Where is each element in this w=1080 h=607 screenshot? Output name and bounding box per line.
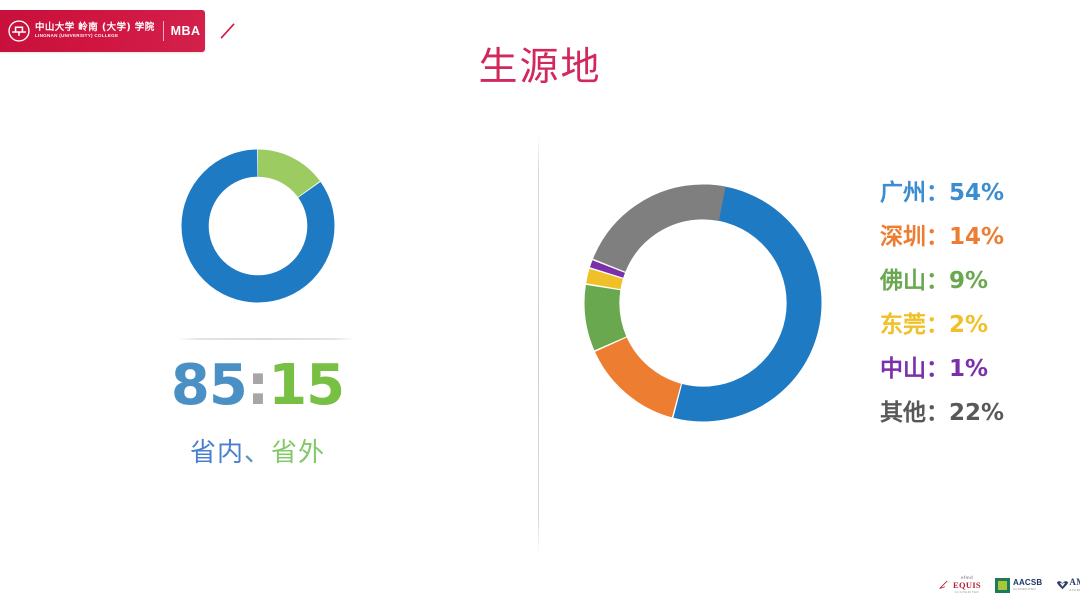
anniversary-20-icon: th: [208, 22, 242, 40]
aacsb-square-icon: [995, 578, 1010, 593]
aacsb-sublabel: ACCREDITED: [1013, 588, 1042, 591]
amba-ribbon-icon: [1056, 580, 1069, 590]
brand-bar: 中山大学 岭南 (大学) 学院 LINGNAN (UNIVERSITY) COL…: [0, 10, 205, 52]
legend-item-shenzhen: 深圳：14%: [880, 226, 1060, 270]
legend-item-foshan: 佛山：9%: [880, 270, 1060, 314]
brand-name-en: LINGNAN (UNIVERSITY) COLLEGE: [35, 34, 155, 39]
legend-separator-dongguan: ：: [926, 314, 949, 337]
brand-name-cn: 中山大学 岭南 (大学) 学院: [35, 23, 155, 33]
legend-value-zhongshan: 1%: [949, 358, 988, 381]
equis-swoosh-icon: [938, 580, 953, 590]
legend-separator-guangzhou: ：: [926, 182, 949, 205]
legend-label-foshan: 佛山: [880, 270, 926, 293]
amba-sublabel: ACCREDITED: [1069, 589, 1080, 592]
legend-value-other: 22%: [949, 402, 1004, 425]
ratio-value-inside: 85: [171, 353, 247, 418]
aacsb-logo-icon: AACSB ACCREDITED: [995, 572, 1042, 598]
legend-separator-shenzhen: ：: [926, 226, 949, 249]
legend-item-other: 其他：22%: [880, 402, 1060, 446]
brand-program-label: MBA: [171, 24, 201, 38]
equis-logo-icon: efmd EQUIS ACCREDITED: [938, 572, 981, 598]
ratio-colon: :: [247, 353, 268, 418]
brand-divider: [163, 21, 164, 41]
legend-value-guangzhou: 54%: [949, 182, 1004, 205]
legend-separator-zhongshan: ：: [926, 358, 949, 381]
page-title: 生源地: [0, 48, 1080, 87]
anniversary-suffix: th: [239, 33, 242, 37]
city-donut-chart: [570, 170, 836, 436]
legend-item-dongguan: 东莞：2%: [880, 314, 1060, 358]
amba-logo-icon: AMBA ACCREDITED: [1056, 572, 1080, 598]
equis-label: EQUIS: [953, 581, 981, 590]
legend-label-other: 其他: [880, 402, 926, 425]
lingnan-arch-emblem-icon: [8, 20, 30, 42]
equis-sublabel: ACCREDITED: [955, 591, 980, 594]
legend-value-shenzhen: 14%: [949, 226, 1004, 249]
city-legend: 广州：54% 深圳：14% 佛山：9% 东莞：2% 中山：1% 其他：22%: [880, 182, 1060, 446]
legend-separator-other: ：: [926, 402, 949, 425]
ratio-value-outside: 15: [268, 353, 344, 418]
legend-separator-foshan: ：: [926, 270, 949, 293]
ratio-rule: [177, 338, 355, 340]
panel-divider: [538, 135, 539, 555]
ratio-caption-inside: 省内: [190, 438, 244, 468]
slide-canvas: 中山大学 岭南 (大学) 学院 LINGNAN (UNIVERSITY) COL…: [0, 0, 1080, 607]
legend-label-zhongshan: 中山: [880, 358, 926, 381]
aacsb-text-block: AACSB ACCREDITED: [1013, 579, 1042, 592]
ratio-caption-outside: 省外: [271, 438, 325, 468]
brand-name-block: 中山大学 岭南 (大学) 学院 LINGNAN (UNIVERSITY) COL…: [35, 23, 155, 39]
ratio-caption-separator: 、: [244, 438, 271, 468]
amba-text-block: AMBA ACCREDITED: [1069, 578, 1080, 592]
amba-label: AMBA: [1069, 578, 1080, 587]
ratio-caption: 省内、省外: [150, 440, 365, 466]
aacsb-label: AACSB: [1013, 579, 1042, 587]
legend-label-shenzhen: 深圳: [880, 226, 926, 249]
equis-text-block: efmd EQUIS ACCREDITED: [953, 576, 981, 594]
legend-item-zhongshan: 中山：1%: [880, 358, 1060, 402]
accreditation-logos: efmd EQUIS ACCREDITED AACSB ACCREDITED A…: [938, 570, 1080, 600]
legend-value-dongguan: 2%: [949, 314, 988, 337]
legend-value-foshan: 9%: [949, 270, 988, 293]
province-panel: 85:15 省内、省外: [150, 135, 365, 311]
province-donut-chart: [173, 141, 343, 311]
legend-item-guangzhou: 广州：54%: [880, 182, 1060, 226]
legend-label-dongguan: 东莞: [880, 314, 926, 337]
ratio-display: 85:15: [150, 358, 365, 414]
legend-label-guangzhou: 广州: [880, 182, 926, 205]
